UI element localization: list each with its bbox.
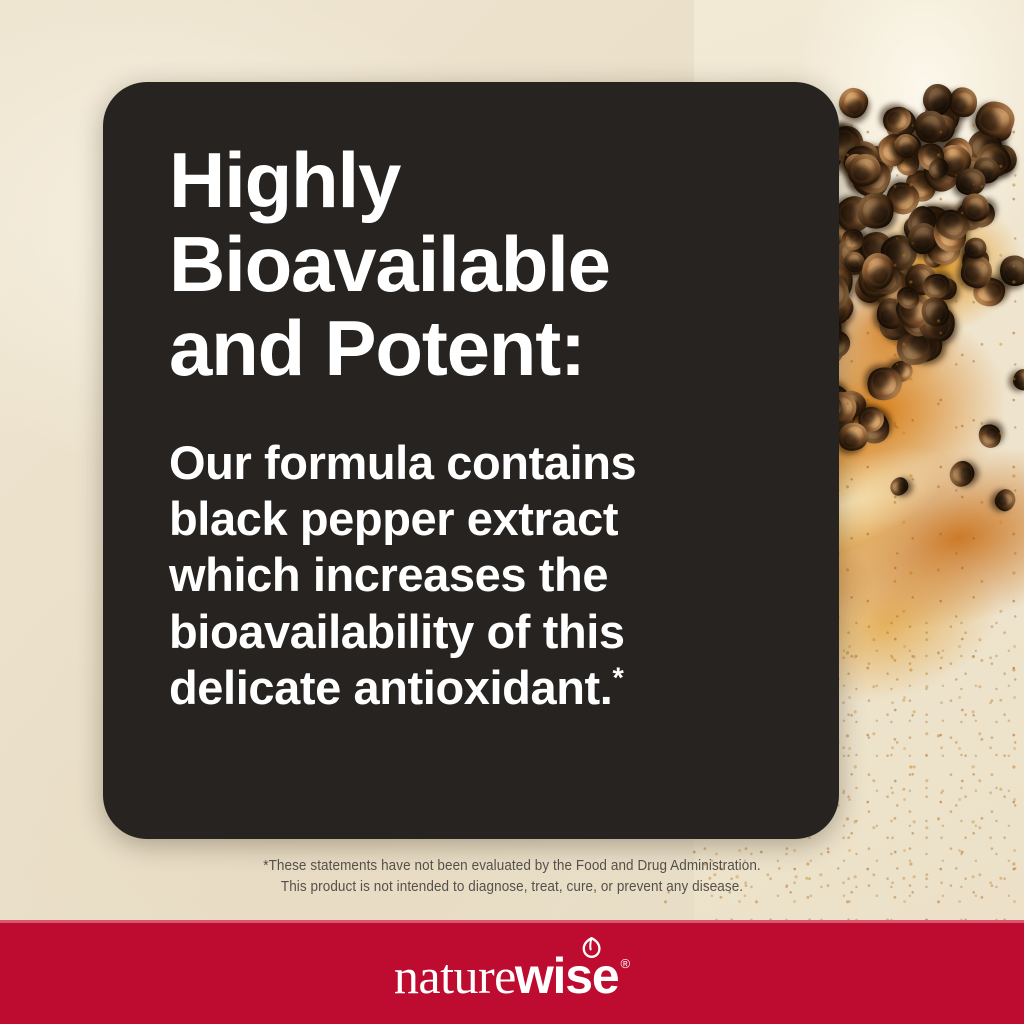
registered-trademark-mark: ® xyxy=(620,957,630,970)
footnote-asterisk: * xyxy=(612,663,623,695)
leaf-icon xyxy=(582,937,601,959)
fda-disclaimer: *These statements have not been evaluate… xyxy=(36,856,988,897)
page-title: HighlyBioavailableand Potent: xyxy=(169,138,799,391)
marketing-panel: HighlyBioavailableand Potent: Our formul… xyxy=(0,0,1024,1024)
body-copy: Our formula containsblack pepper extract… xyxy=(169,435,729,717)
naturewise-logo: nature wise ® xyxy=(394,951,630,1001)
peppercorn xyxy=(837,86,870,120)
disclaimer-line-2: This product is not intended to diagnose… xyxy=(36,877,988,898)
brand-footer: nature wise ® xyxy=(0,923,1024,1024)
disclaimer-line-1: *These statements have not been evaluate… xyxy=(36,856,988,877)
logo-text-wise: wise xyxy=(515,951,619,1001)
content-card: HighlyBioavailableand Potent: Our formul… xyxy=(103,82,839,839)
logo-text-nature: nature xyxy=(394,951,516,1001)
